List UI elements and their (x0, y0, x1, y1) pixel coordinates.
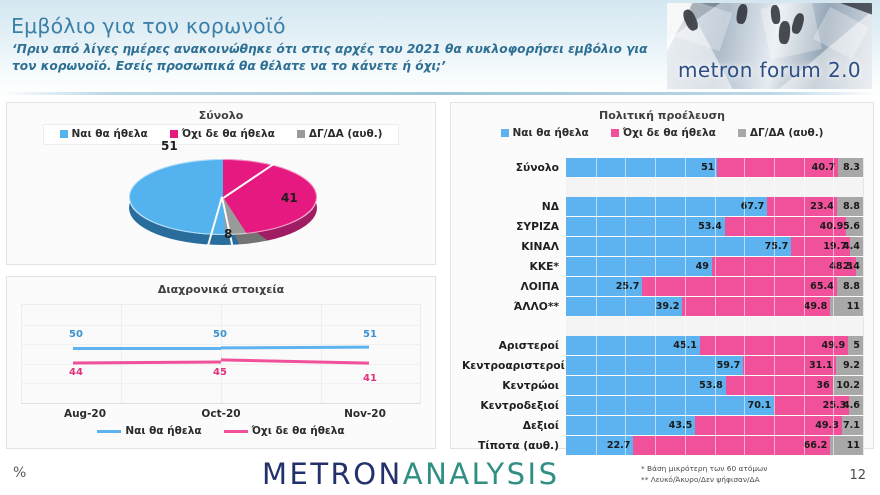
bar-segment-no: 31.1 (743, 356, 835, 375)
bar-segment-no: 40.7 (717, 158, 838, 177)
metron-forum-logo: metron forum 2.0 (667, 3, 872, 89)
bar-segment-no: 25.3 (774, 396, 849, 415)
line-point-no-1: 45 (213, 367, 227, 378)
bar-row-label: Κεντροδεξιοί (462, 399, 566, 412)
bar-chart-panel: Πολιτική προέλευση Ναι θα ήθελα Όχι δε θ… (450, 102, 874, 449)
brand-metron: METRON (262, 457, 403, 491)
bar-track: 25.765.48.8 (566, 277, 864, 296)
bar-segment-no: 40.9 (725, 217, 847, 236)
bar-segment-dk: 11 (830, 436, 863, 455)
bar-row-label: Αριστεροί (462, 339, 566, 352)
bar-row-spacer (462, 178, 864, 196)
legend-item-no: Όχι δε θα ήθελα (170, 128, 275, 140)
pie-chart-panel: Σύνολο Ναι θα ήθελα Όχι δε θα ήθελα ΔΓ/Δ… (6, 102, 436, 265)
bar-row-label: Κεντροαριστεροί (462, 359, 566, 372)
line-chart-plot: 50 50 51 44 45 41 (21, 304, 421, 404)
legend-swatch-yes-icon (60, 130, 68, 138)
bar-track: 5140.78.3 (566, 158, 864, 177)
bar-chart-title: Πολιτική προέλευση (451, 109, 873, 122)
metron-analysis-wordmark: METRONANALYSIS (262, 457, 560, 491)
footnote-2: ** Λευκό/Άκυρο/Δεν ψήφισαν/ΔΑ (641, 474, 767, 485)
bar-row-label: Τίποτα (αυθ.) (462, 439, 566, 452)
line-chart-title: Διαχρονικά στοιχεία (7, 283, 435, 296)
bar-segment-dk: 5 (848, 336, 863, 355)
bar-segment-yes: 70.1 (566, 396, 774, 415)
bar-segment-no: 36 (726, 376, 833, 395)
legend-swatch-dk-icon (738, 129, 746, 137)
legend-label-dk: ΔΓ/ΔΑ (αυθ.) (309, 128, 383, 140)
bar-segment-dk: 4.6 (849, 396, 863, 415)
slide-header: Εμβόλιο για τον κορωνοϊό ‘Πριν από λίγες… (0, 0, 880, 96)
legend-label-no: Όχι δε θα ήθελα (623, 127, 716, 139)
bar-segment-no: 65.4 (642, 277, 836, 296)
bar-row-label: ΆΛΛΟ** (462, 300, 566, 313)
bar-segment-yes: 67.7 (566, 197, 767, 216)
legend-label-yes: Ναι θα ήθελα (72, 128, 148, 140)
line-point-yes-0: 50 (69, 329, 83, 340)
bar-segment-dk: 2.4 (856, 257, 863, 276)
bar-segment-yes: 59.7 (566, 356, 743, 375)
question-text: ‘Πριν από λίγες ημέρες ανακοινώθηκε ότι … (12, 41, 672, 74)
bar-track: 70.125.34.6 (566, 396, 864, 415)
bar-row: ΚΚΕ*4948.32.4 (462, 257, 864, 276)
legend-item-no: Όχι δε θα ήθελα (224, 425, 345, 437)
bar-segment-yes: 43.5 (566, 416, 695, 435)
bar-row: ΛΟΙΠΑ25.765.48.8 (462, 277, 864, 296)
pie-value-yes: 51 (161, 139, 178, 153)
legend-label-dk: ΔΓ/ΔΑ (αυθ.) (750, 127, 824, 139)
line-point-yes-2: 51 (363, 329, 377, 340)
legend-swatch-dk-icon (297, 130, 305, 138)
bar-row: ΝΔ67.723.48.8 (462, 197, 864, 216)
x-tick-0: Aug-20 (64, 408, 106, 420)
line-chart-panel: Διαχρονικά στοιχεία 50 50 51 44 45 41 Au… (6, 276, 436, 449)
bar-segment-no: 49.3 (695, 416, 842, 435)
bar-track: 43.549.37.1 (566, 416, 864, 435)
legend-line-yes-icon (97, 430, 121, 433)
bar-segment-dk: 8.3 (838, 158, 863, 177)
pie-graphic: 51 41 8 (123, 143, 323, 255)
bar-segment-yes: 39.2 (566, 297, 682, 316)
bar-segment-yes: 51 (566, 158, 717, 177)
legend-item-dk: ΔΓ/ΔΑ (αυθ.) (738, 127, 824, 139)
bar-row: Κεντροαριστεροί59.731.19.2 (462, 356, 864, 375)
bar-segment-dk: 10.2 (833, 376, 863, 395)
x-tick-2: Nov-20 (344, 408, 386, 420)
legend-item-yes: Ναι θα ήθελα (97, 425, 201, 437)
bar-segment-no: 48.3 (712, 257, 856, 276)
bar-row: Τίποτα (αυθ.)22.766.211 (462, 436, 864, 455)
bar-row: Κεντρώοι53.83610.2 (462, 376, 864, 395)
legend-item-no: Όχι δε θα ήθελα (611, 127, 716, 139)
bar-track: 53.440.95.6 (566, 217, 864, 236)
bar-segment-no: 49.8 (682, 297, 830, 316)
bar-row: Κεντροδεξιοί70.125.34.6 (462, 396, 864, 415)
bar-row-label: Σύνολο (462, 161, 566, 174)
bar-segment-dk: 9.2 (836, 356, 863, 375)
bar-gridlines (566, 317, 863, 336)
line-chart-x-axis: Aug-20 Oct-20 Nov-20 (21, 404, 421, 424)
legend-label-no: Όχι δε θα ήθελα (252, 425, 345, 437)
bar-chart-plot: Σύνολο5140.78.3ΝΔ67.723.48.8ΣΥΡΙΖΑ53.440… (462, 158, 864, 438)
bar-segment-yes: 45.1 (566, 336, 700, 355)
bar-track: 39.249.811 (566, 297, 864, 316)
legend-item-dk: ΔΓ/ΔΑ (αυθ.) (297, 128, 383, 140)
bar-row: Δεξιοί43.549.37.1 (462, 416, 864, 435)
bar-segment-dk: 5.6 (846, 217, 863, 236)
bar-row: ΚΙΝΑΛ75.719.74.4 (462, 237, 864, 256)
footnotes: * Βάση μικρότερη των 60 ατόμων ** Λευκό/… (641, 463, 767, 485)
bar-row-label: ΚΚΕ* (462, 260, 566, 273)
bar-segment-no: 49.9 (700, 336, 848, 355)
line-series-yes-segment-2 (221, 346, 369, 349)
pie-chart-legend: Ναι θα ήθελα Όχι δε θα ήθελα ΔΓ/ΔΑ (αυθ.… (43, 124, 399, 145)
x-tick-1: Oct-20 (201, 408, 240, 420)
percent-unit-label: % (13, 465, 26, 481)
footnote-1: * Βάση μικρότερη των 60 ατόμων (641, 463, 767, 474)
bar-track: 75.719.74.4 (566, 237, 864, 256)
bar-track: 67.723.48.8 (566, 197, 864, 216)
line-series-yes-segment-1 (73, 347, 221, 350)
bar-row-label: ΝΔ (462, 200, 566, 213)
legend-swatch-no-icon (170, 130, 178, 138)
bar-row-label: ΛΟΙΠΑ (462, 280, 566, 293)
line-chart-legend: Ναι θα ήθελα Όχι δε θα ήθελα (7, 425, 435, 437)
bar-track: 22.766.211 (566, 436, 864, 455)
legend-label-yes: Ναι θα ήθελα (125, 425, 201, 437)
bar-segment-yes: 49 (566, 257, 712, 276)
bar-segment-no: 23.4 (767, 197, 837, 216)
legend-item-yes: Ναι θα ήθελα (501, 127, 589, 139)
bar-gridlines (566, 178, 863, 197)
legend-label-no: Όχι δε θα ήθελα (182, 128, 275, 140)
line-point-yes-1: 50 (213, 329, 227, 340)
slide-footer: % METRONANALYSIS * Βάση μικρότερη των 60… (0, 455, 880, 495)
bar-track: 53.83610.2 (566, 376, 864, 395)
bar-row: ΣΥΡΙΖΑ53.440.95.6 (462, 217, 864, 236)
bar-row-label: Κεντρώοι (462, 379, 566, 392)
pie-value-dk: 8 (224, 227, 232, 241)
header-divider (0, 92, 880, 95)
pie-chart-plot: 51 41 8 (7, 145, 437, 257)
bar-track (566, 178, 864, 197)
bar-segment-dk: 7.1 (842, 416, 863, 435)
bar-track: 45.149.95 (566, 336, 864, 355)
bar-segment-yes: 22.7 (566, 436, 633, 455)
bar-segment-yes: 53.4 (566, 217, 725, 236)
legend-swatch-yes-icon (501, 129, 509, 137)
page-title: Εμβόλιο για τον κορωνοϊό (11, 14, 286, 38)
bar-row: Αριστεροί45.149.95 (462, 336, 864, 355)
bar-segment-yes: 75.7 (566, 237, 791, 256)
line-point-no-2: 41 (363, 373, 377, 384)
bar-row: Σύνολο5140.78.3 (462, 158, 864, 177)
legend-item-yes: Ναι θα ήθελα (60, 128, 148, 140)
bar-segment-dk: 4.4 (850, 237, 863, 256)
brand-analysis: ANALYSIS (403, 457, 560, 491)
bar-row-label: ΣΥΡΙΖΑ (462, 220, 566, 233)
bar-chart-legend: Ναι θα ήθελα Όχι δε θα ήθελα ΔΓ/ΔΑ (αυθ.… (451, 127, 873, 139)
pie-chart-title: Σύνολο (7, 109, 435, 122)
bar-track (566, 317, 864, 336)
bar-segment-dk: 8.8 (837, 277, 863, 296)
bar-row-label: ΚΙΝΑΛ (462, 240, 566, 253)
legend-line-no-icon (224, 430, 248, 433)
bar-track: 59.731.19.2 (566, 356, 864, 375)
bar-segment-yes: 25.7 (566, 277, 642, 296)
bar-segment-yes: 53.8 (566, 376, 726, 395)
line-point-no-0: 44 (69, 367, 83, 378)
pie-value-no: 41 (281, 191, 298, 205)
logo-wordmark: metron forum 2.0 (667, 58, 872, 82)
bar-row-label: Δεξιοί (462, 419, 566, 432)
bar-segment-no: 66.2 (633, 436, 830, 455)
bar-segment-dk: 11 (830, 297, 863, 316)
bar-segment-dk: 8.8 (837, 197, 863, 216)
bar-row: ΆΛΛΟ**39.249.811 (462, 297, 864, 316)
page-number: 12 (849, 468, 866, 483)
bar-row-spacer (462, 317, 864, 335)
legend-swatch-no-icon (611, 129, 619, 137)
bar-segment-no: 19.7 (791, 237, 850, 256)
legend-label-yes: Ναι θα ήθελα (513, 127, 589, 139)
bar-track: 4948.32.4 (566, 257, 864, 276)
